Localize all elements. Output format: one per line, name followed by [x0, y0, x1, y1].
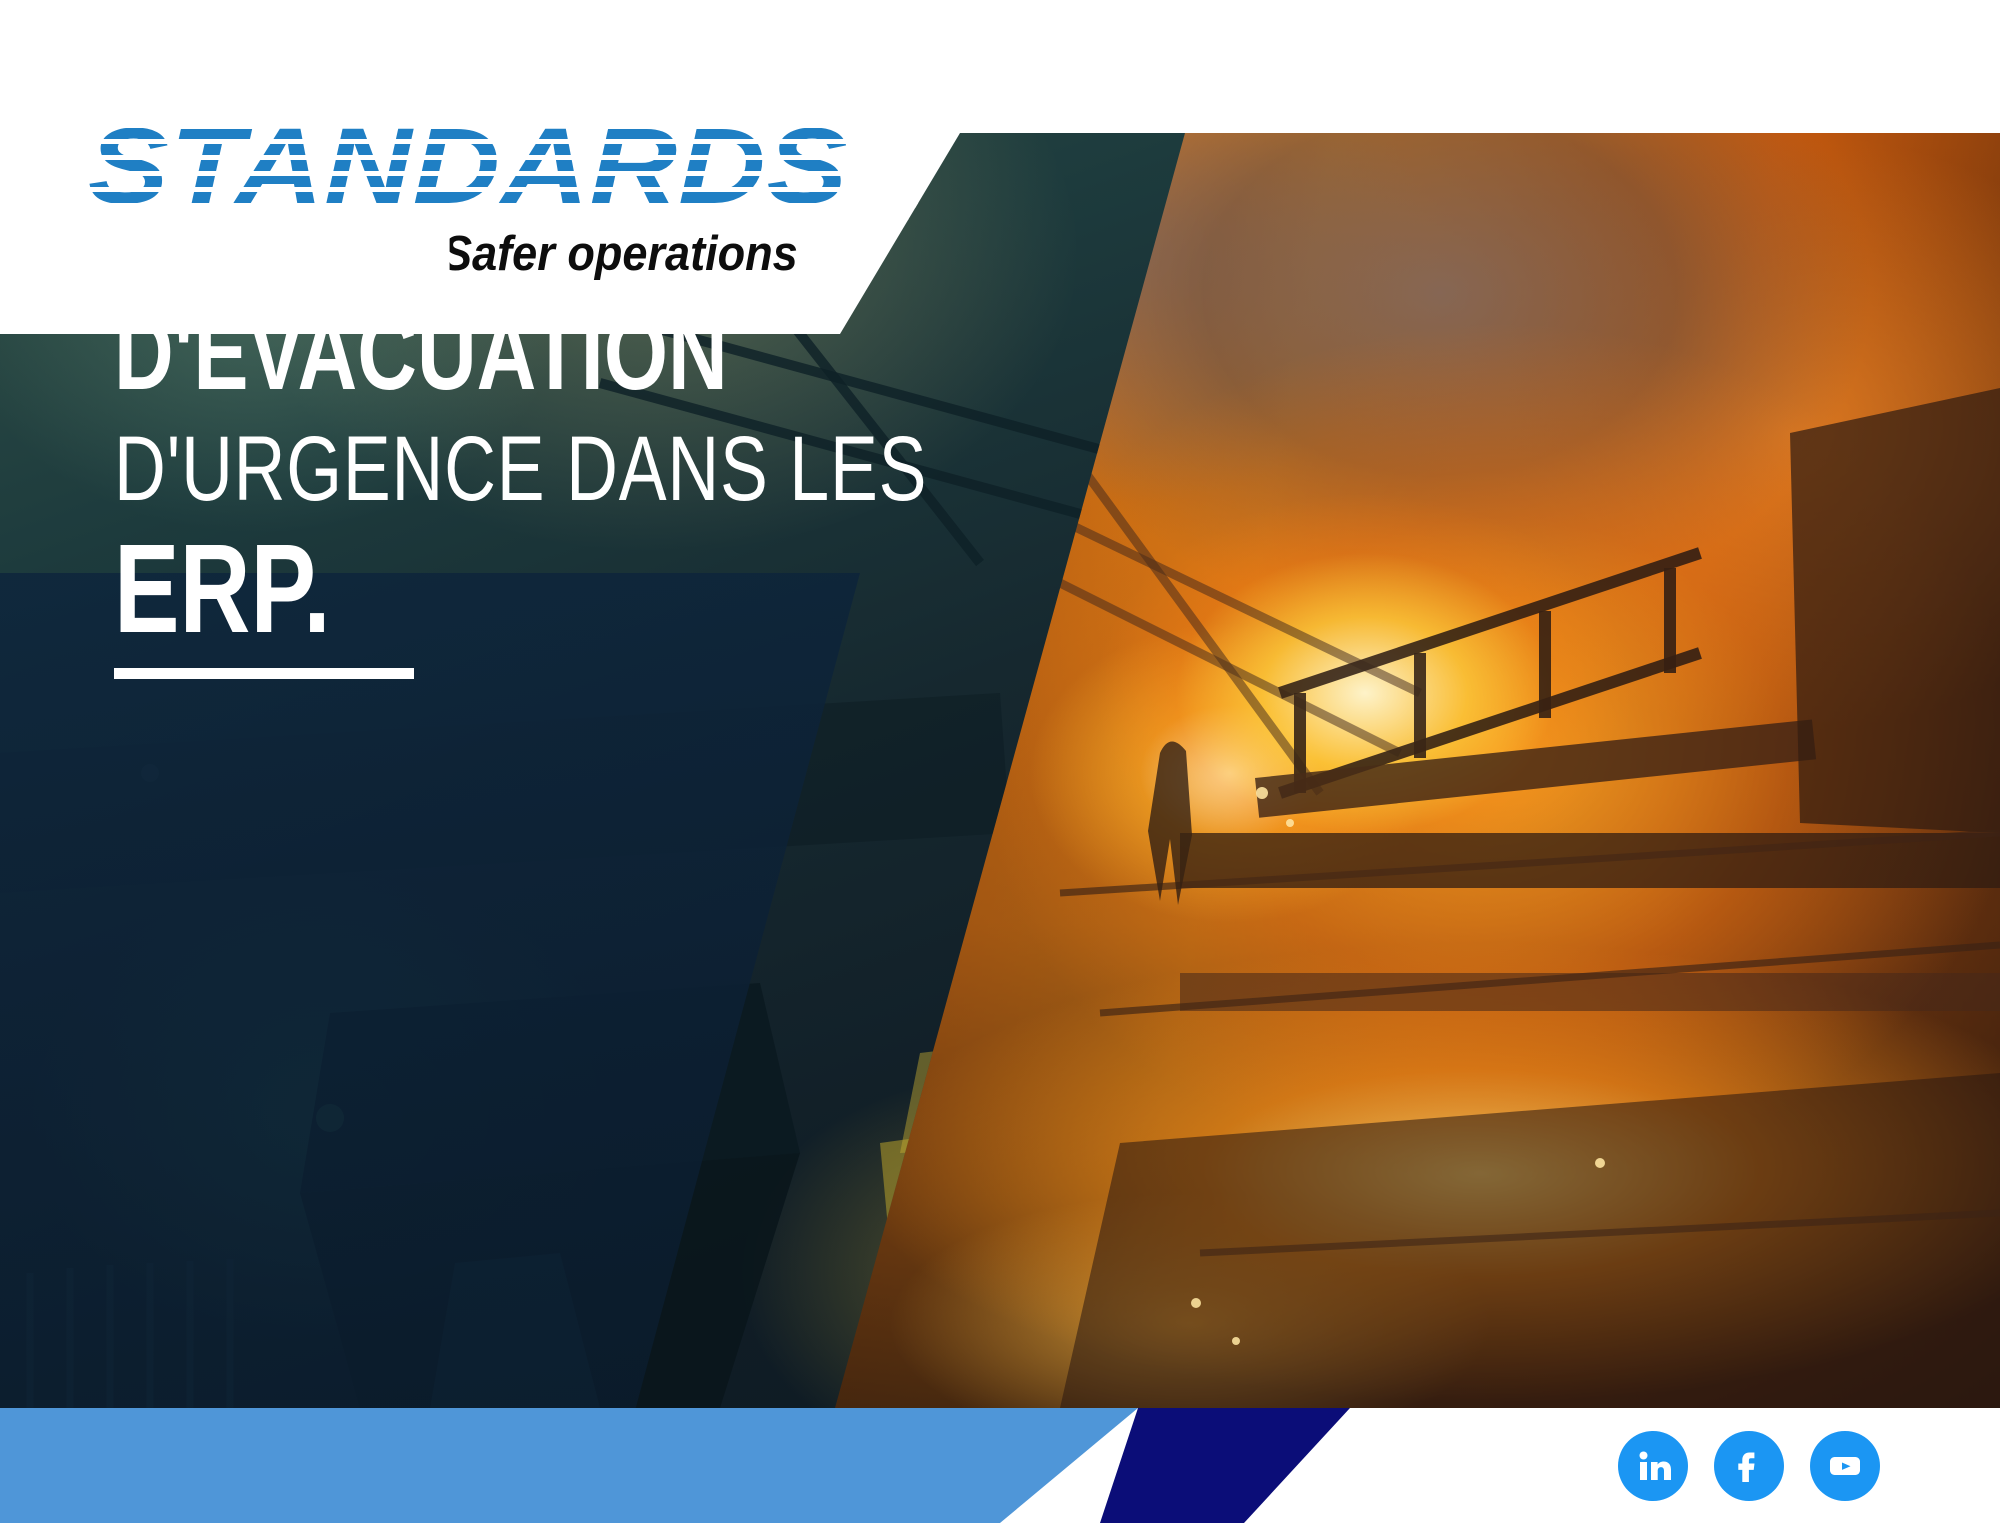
poster-canvas: GESTION D'ÉVACUATION D'URGENCE DANS LES …	[0, 0, 2000, 1523]
linkedin-icon[interactable]: LinkedIn	[1618, 1431, 1688, 1501]
headline-underline-rule	[114, 668, 414, 679]
facebook-icon[interactable]: Facebook	[1714, 1431, 1784, 1501]
social-links: LinkedIn Facebook YouTube	[1618, 1408, 1880, 1523]
headline-block: GESTION D'ÉVACUATION D'URGENCE DANS LES …	[114, 193, 934, 679]
hero-photo-area: GESTION D'ÉVACUATION D'URGENCE DANS LES …	[0, 133, 2000, 1408]
headline-line-4: ERP.	[114, 530, 754, 647]
headline-line-1: GESTION	[114, 193, 754, 282]
footer-bar: LinkedIn Facebook YouTube	[0, 1408, 2000, 1523]
footer-navy-triangle	[1100, 1408, 1380, 1523]
headline-line-3: D'URGENCE DANS LES	[114, 427, 754, 513]
footer-blue-shape	[0, 1408, 1200, 1523]
youtube-icon[interactable]: YouTube	[1810, 1431, 1880, 1501]
headline-line-2: D'ÉVACUATION	[114, 304, 754, 403]
